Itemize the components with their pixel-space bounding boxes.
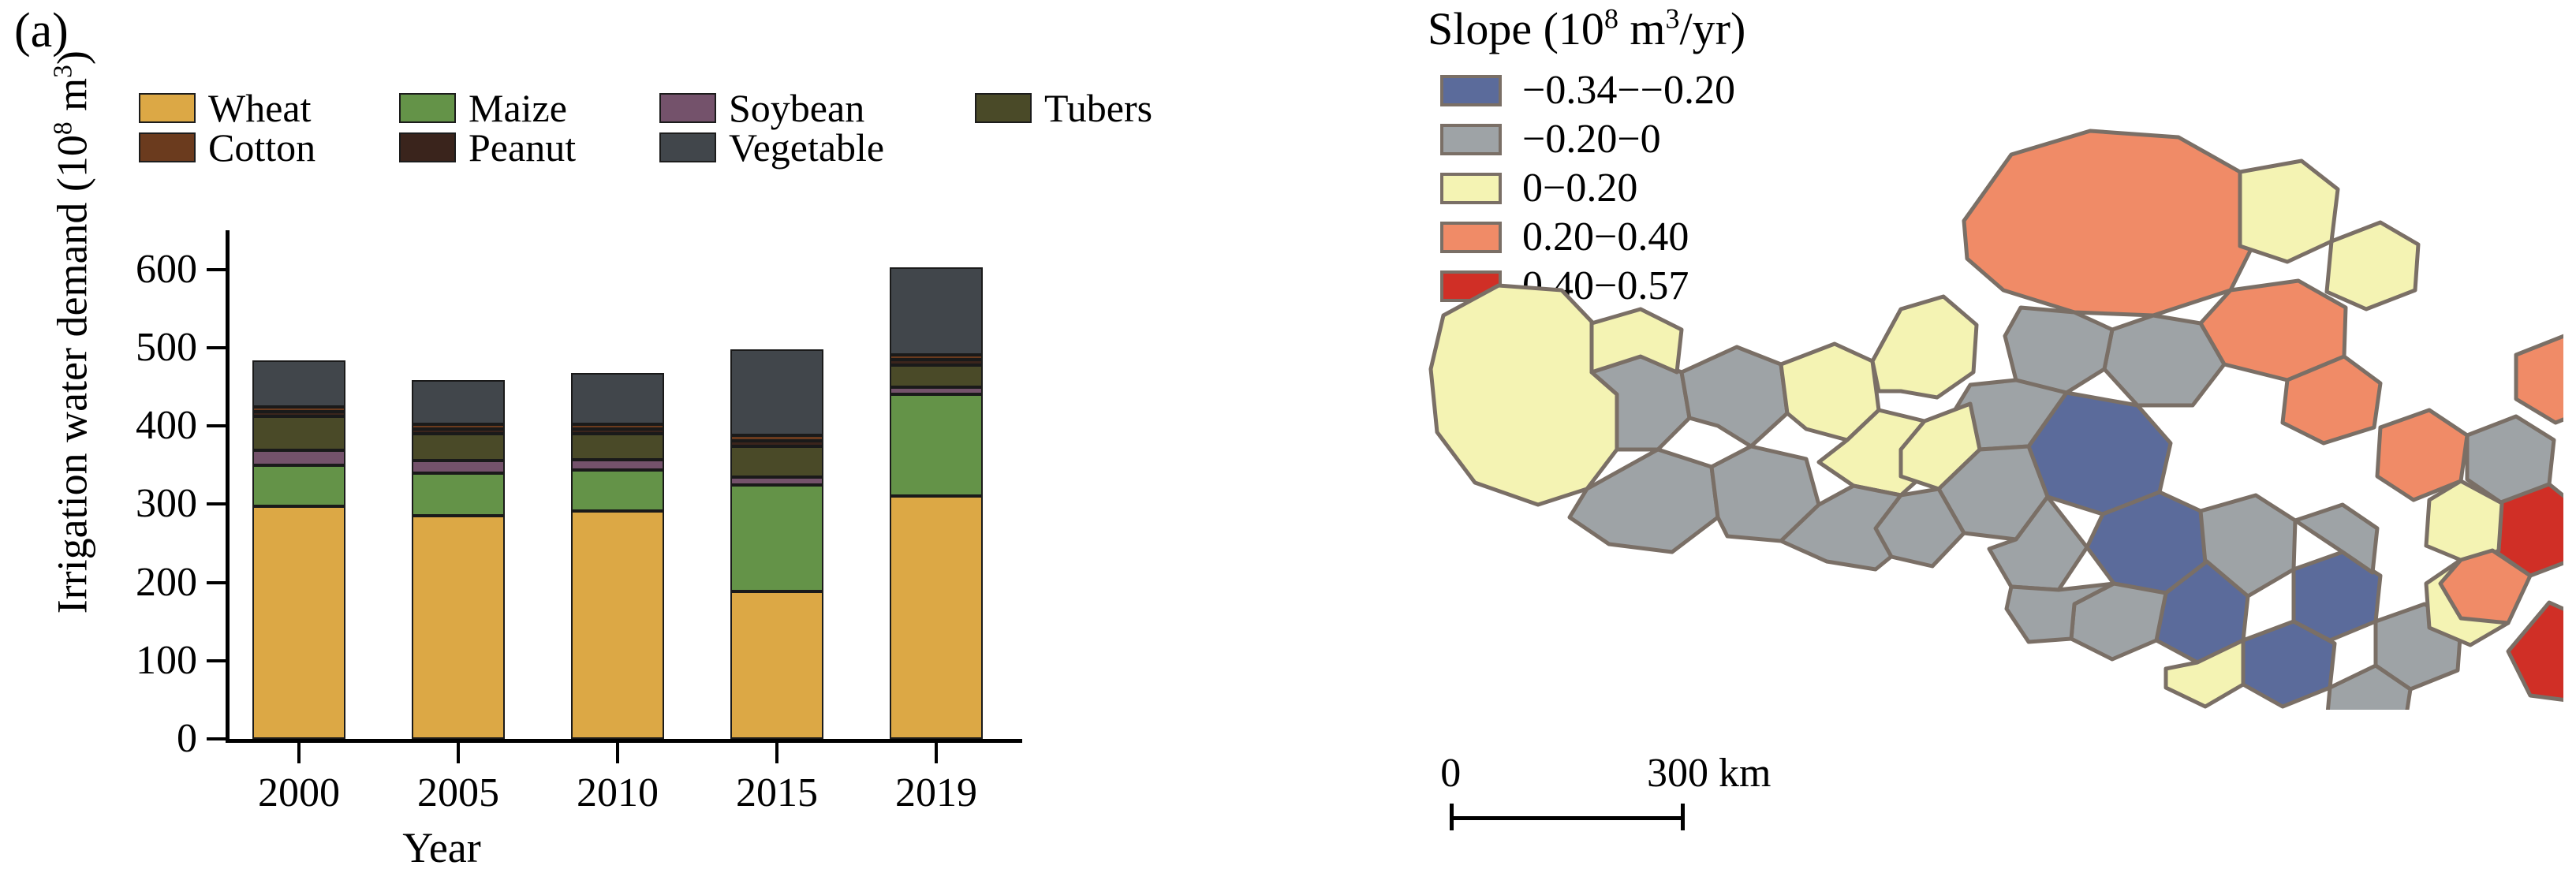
scalebar-tick-right (1681, 804, 1685, 830)
y-tick (207, 346, 227, 349)
legend-label-tubers: Tubers (1044, 88, 1152, 128)
bar-2015[interactable] (730, 0, 823, 739)
x-tick-label: 2000 (258, 773, 340, 814)
bar-2005[interactable] (412, 0, 505, 739)
scalebar-graphic (1450, 804, 1805, 830)
bar-segment-peanut (412, 429, 505, 434)
panel-a-label: (a) (14, 6, 69, 55)
x-tick (775, 743, 778, 763)
y-tick-label: 600 (79, 249, 197, 290)
y-tick (207, 424, 227, 427)
bar-segment-tubers (571, 434, 664, 460)
bar-segment-cotton (890, 355, 983, 360)
bar-2019[interactable] (890, 0, 983, 739)
legend-swatch-vegetable (659, 132, 716, 162)
map-region-west-yellow-1[interactable] (1431, 285, 1617, 505)
x-tick-label: 2019 (895, 773, 977, 814)
bar-segment-vegetable (252, 360, 345, 408)
bar-segment-tubers (252, 416, 345, 450)
map-region-east-red-2[interactable] (2508, 602, 2563, 702)
bar-2000[interactable] (252, 0, 345, 739)
legend-swatch-cotton (139, 132, 196, 162)
bar-segment-vegetable (730, 349, 823, 435)
y-tick-label: 300 (79, 483, 197, 524)
map-region-north-yellow-2[interactable] (2327, 222, 2418, 309)
bar-segment-wheat (412, 516, 505, 739)
map-scale-bar: 0 300 km (1450, 753, 1805, 830)
panel-b-map: (b) Slope (108 m3/yr) −0.34−−0.20 −0.20−… (1286, 0, 2576, 884)
y-tick-label: 400 (79, 405, 197, 446)
scalebar-label-left: 0 (1440, 753, 1461, 794)
y-tick-label: 0 (79, 718, 197, 759)
y-tick-label: 200 (79, 562, 197, 603)
map-region-west-yellow-4[interactable] (1872, 297, 1977, 397)
bar-segment-wheat (890, 496, 983, 739)
bar-segment-peanut (252, 412, 345, 416)
map-legend-title: Slope (108 m3/yr) (1428, 6, 1745, 52)
scalebar-label-right: 300 km (1647, 753, 1771, 794)
bar-segment-peanut (890, 360, 983, 365)
bar-segment-peanut (571, 429, 664, 434)
bar-segment-vegetable (571, 373, 664, 424)
y-tick-label: 500 (79, 327, 197, 368)
bar-segment-tubers (890, 365, 983, 388)
bar-segment-wheat (730, 591, 823, 739)
legend-swatch-tubers (975, 93, 1032, 123)
y-tick (207, 659, 227, 662)
bar-segment-maize (730, 485, 823, 591)
map-region-east-orange-1[interactable] (2516, 334, 2563, 423)
bar-segment-soybean (412, 461, 505, 473)
bar-segment-maize (252, 465, 345, 507)
bar-segment-wheat (252, 506, 345, 739)
scalebar-line (1450, 816, 1685, 820)
bar-segment-tubers (730, 446, 823, 477)
y-tick (207, 737, 227, 740)
x-axis-line (226, 739, 1022, 743)
bar-segment-maize (890, 394, 983, 496)
legend-swatch-soybean (659, 93, 716, 123)
figure-root: (a) Wheat Maize Soybean Tubers Cotton (0, 0, 2576, 884)
bar-segment-peanut (730, 441, 823, 446)
bar-segment-cotton (412, 424, 505, 429)
bar-segment-maize (412, 473, 505, 517)
x-tick (297, 743, 301, 763)
y-axis-line (226, 230, 230, 743)
x-tick (935, 743, 938, 763)
bar-segment-tubers (412, 434, 505, 461)
bar-2010[interactable] (571, 0, 664, 739)
scalebar-tick-left (1450, 804, 1454, 830)
x-axis-title: Year (402, 826, 481, 869)
bar-segment-soybean (252, 450, 345, 465)
panel-a-bar-chart: (a) Wheat Maize Soybean Tubers Cotton (0, 0, 1286, 884)
legend-swatch-wheat (139, 93, 196, 123)
y-tick (207, 502, 227, 505)
map-region-north-orange-big[interactable] (1964, 131, 2257, 315)
bar-segment-soybean (571, 460, 664, 470)
bar-segment-cotton (730, 435, 823, 441)
map-region-north-yellow-1[interactable] (2240, 161, 2338, 262)
bar-segment-cotton (252, 407, 345, 412)
bar-segment-soybean (730, 477, 823, 486)
legend-item-tubers[interactable]: Tubers (975, 88, 1259, 128)
bar-segment-cotton (571, 424, 664, 429)
x-tick-label: 2015 (736, 773, 818, 814)
map-svg[interactable] (1380, 79, 2563, 710)
x-tick (457, 743, 460, 763)
y-tick (207, 581, 227, 584)
bar-segment-vegetable (890, 267, 983, 355)
x-tick-label: 2005 (417, 773, 499, 814)
bar-segment-maize (571, 470, 664, 512)
map-region-west-grey-3[interactable] (1682, 347, 1787, 446)
choropleth-map[interactable] (1380, 79, 2563, 710)
bar-segment-wheat (571, 511, 664, 739)
bar-segment-vegetable (412, 380, 505, 425)
y-tick-label: 100 (79, 640, 197, 681)
y-tick (207, 268, 227, 271)
bar-segment-soybean (890, 387, 983, 394)
x-tick-label: 2010 (577, 773, 659, 814)
x-tick (616, 743, 619, 763)
